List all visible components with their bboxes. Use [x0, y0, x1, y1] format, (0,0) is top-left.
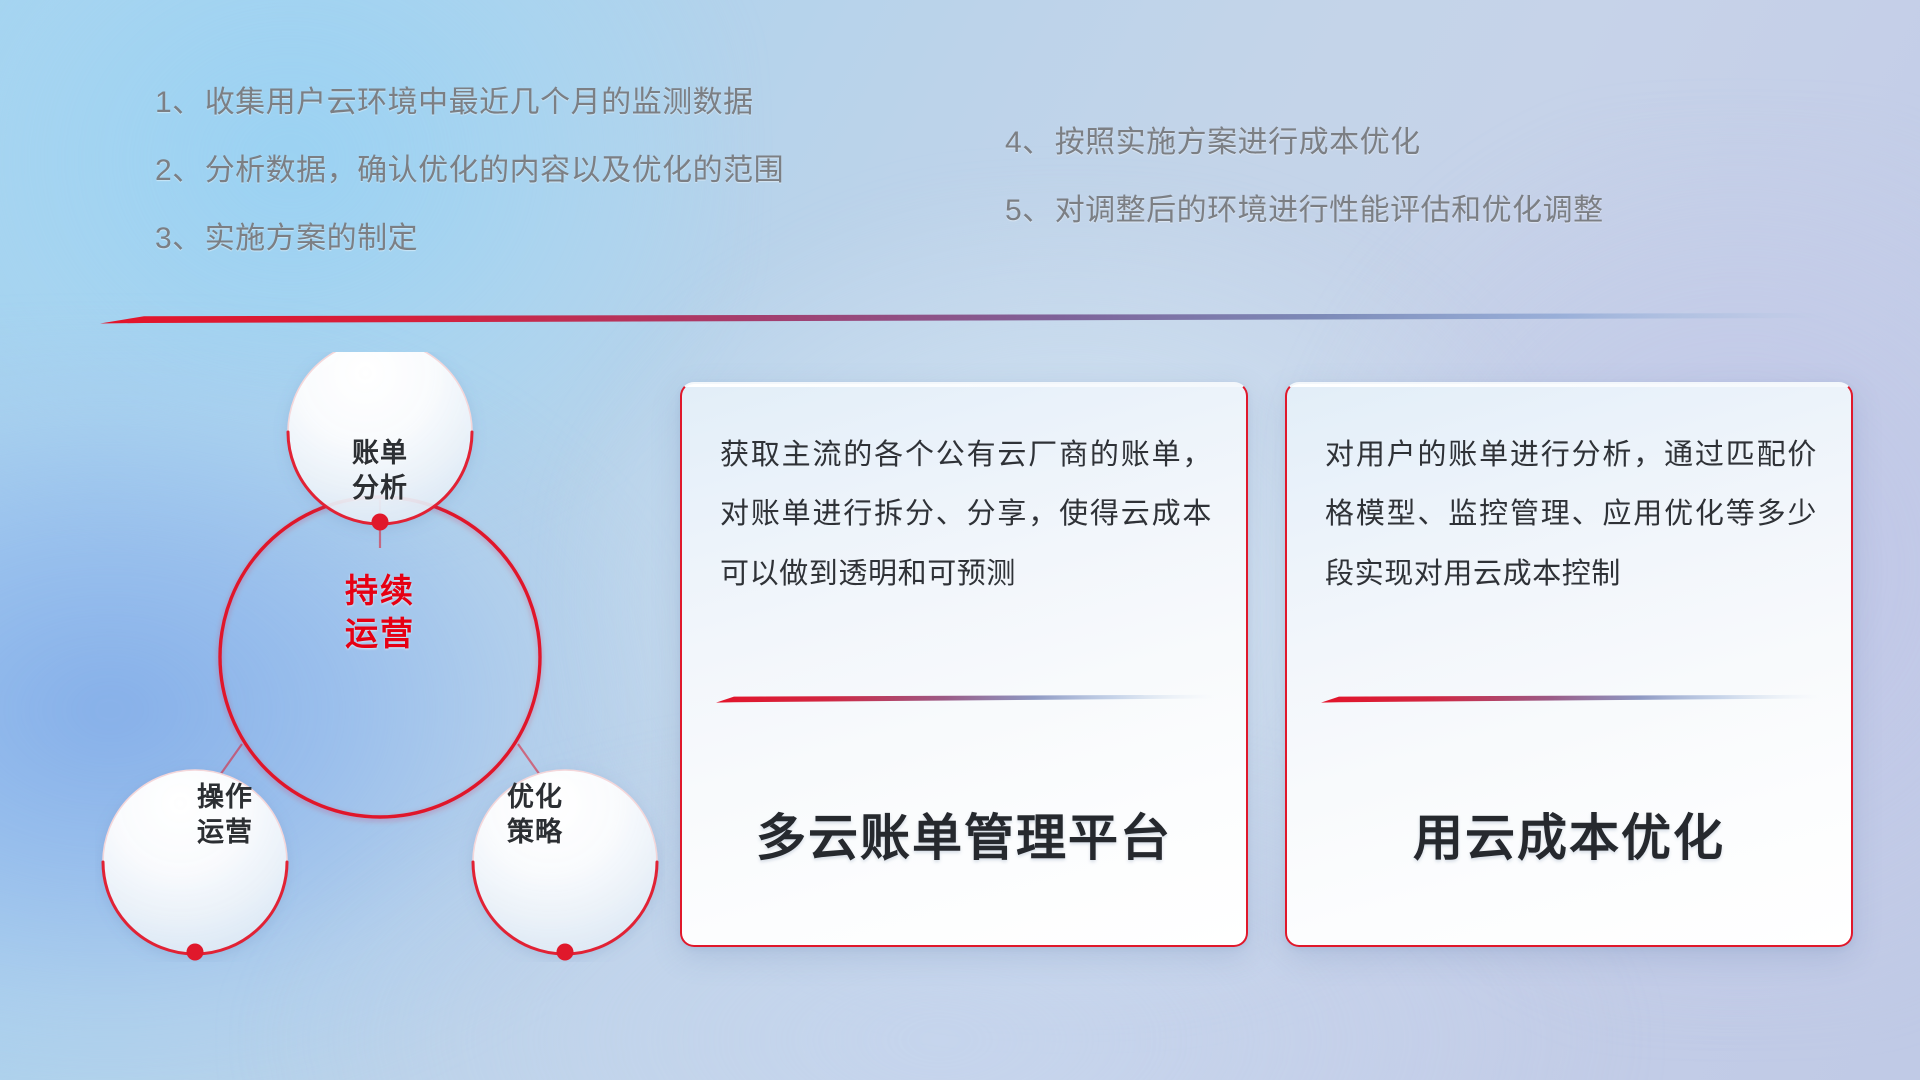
steps-column-left: 1、收集用户云环境中最近几个月的监测数据 2、分析数据，确认优化的内容以及优化的… — [155, 88, 784, 292]
step-text-1: 收集用户云环境中最近几个月的监测数据 — [205, 86, 754, 119]
card-divider — [1321, 694, 1819, 704]
venn-label-continuous-operations: 持续 运营 — [270, 570, 490, 656]
step-text-4: 按照实施方案进行成本优化 — [1055, 126, 1421, 159]
card-cloud-cost-optimization[interactable]: 对用户的账单进行分析，通过匹配价格模型、监控管理、应用优化等多少段实现对用云成本… — [1285, 382, 1853, 947]
step-item-5: 5、对调整后的环境进行性能评估和优化调整 — [1005, 196, 1604, 226]
venn-label-operations: 操作 运营 — [130, 780, 320, 849]
steps-list: 1、收集用户云环境中最近几个月的监测数据 2、分析数据，确认优化的内容以及优化的… — [0, 88, 1920, 268]
card-body-text: 获取主流的各个公有云厂商的账单，对账单进行拆分、分享，使得云成本可以做到透明和可… — [720, 426, 1212, 604]
card-multicloud-billing-platform[interactable]: 获取主流的各个公有云厂商的账单，对账单进行拆分、分享，使得云成本可以做到透明和可… — [680, 382, 1248, 947]
card-divider — [716, 694, 1214, 704]
step-number-3: 3、 — [155, 222, 203, 255]
steps-column-right: 4、按照实施方案进行成本优化 5、对调整后的环境进行性能评估和优化调整 — [1005, 128, 1604, 264]
card-title: 用云成本优化 — [1287, 798, 1851, 870]
step-text-3: 实施方案的制定 — [205, 222, 419, 255]
venn-label-optimization-strategy: 优化 策略 — [440, 780, 630, 849]
step-item-3: 3、实施方案的制定 — [155, 224, 784, 254]
step-number-4: 4、 — [1005, 126, 1053, 159]
step-item-1: 1、收集用户云环境中最近几个月的监测数据 — [155, 88, 784, 118]
card-title: 多云账单管理平台 — [682, 798, 1246, 870]
venn-label-bill-analysis: 账单 分析 — [285, 436, 475, 505]
step-item-4: 4、按照实施方案进行成本优化 — [1005, 128, 1604, 158]
continuous-operations-diagram: 账单 分析 操作 运营 优化 策略 持续 运营 — [95, 352, 665, 962]
step-text-2: 分析数据，确认优化的内容以及优化的范围 — [205, 154, 785, 187]
step-text-5: 对调整后的环境进行性能评估和优化调整 — [1055, 194, 1604, 227]
card-divider-shape — [1321, 694, 1819, 704]
section-divider — [100, 312, 1840, 326]
step-number-2: 2、 — [155, 154, 203, 187]
card-body-text: 对用户的账单进行分析，通过匹配价格模型、监控管理、应用优化等多少段实现对用云成本… — [1325, 426, 1817, 604]
step-number-5: 5、 — [1005, 194, 1053, 227]
step-item-2: 2、分析数据，确认优化的内容以及优化的范围 — [155, 156, 784, 186]
card-divider-shape — [716, 694, 1214, 704]
section-divider-shape — [100, 312, 1840, 326]
step-number-1: 1、 — [155, 86, 203, 119]
